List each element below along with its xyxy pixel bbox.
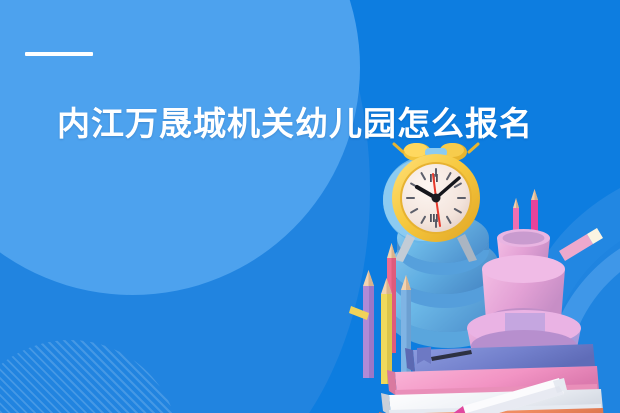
study-supplies-illustration — [345, 138, 620, 413]
cup-marker — [559, 228, 603, 261]
pencil-holder-cup — [467, 189, 603, 362]
background-light-circle — [0, 0, 360, 295]
article-cover-banner: 内江万晟城机关幼儿园怎么报名 — [0, 0, 620, 413]
background-mid-curve-2 — [0, 0, 370, 413]
background-stripe-circle — [0, 340, 180, 413]
title-underline-rule — [25, 52, 93, 56]
